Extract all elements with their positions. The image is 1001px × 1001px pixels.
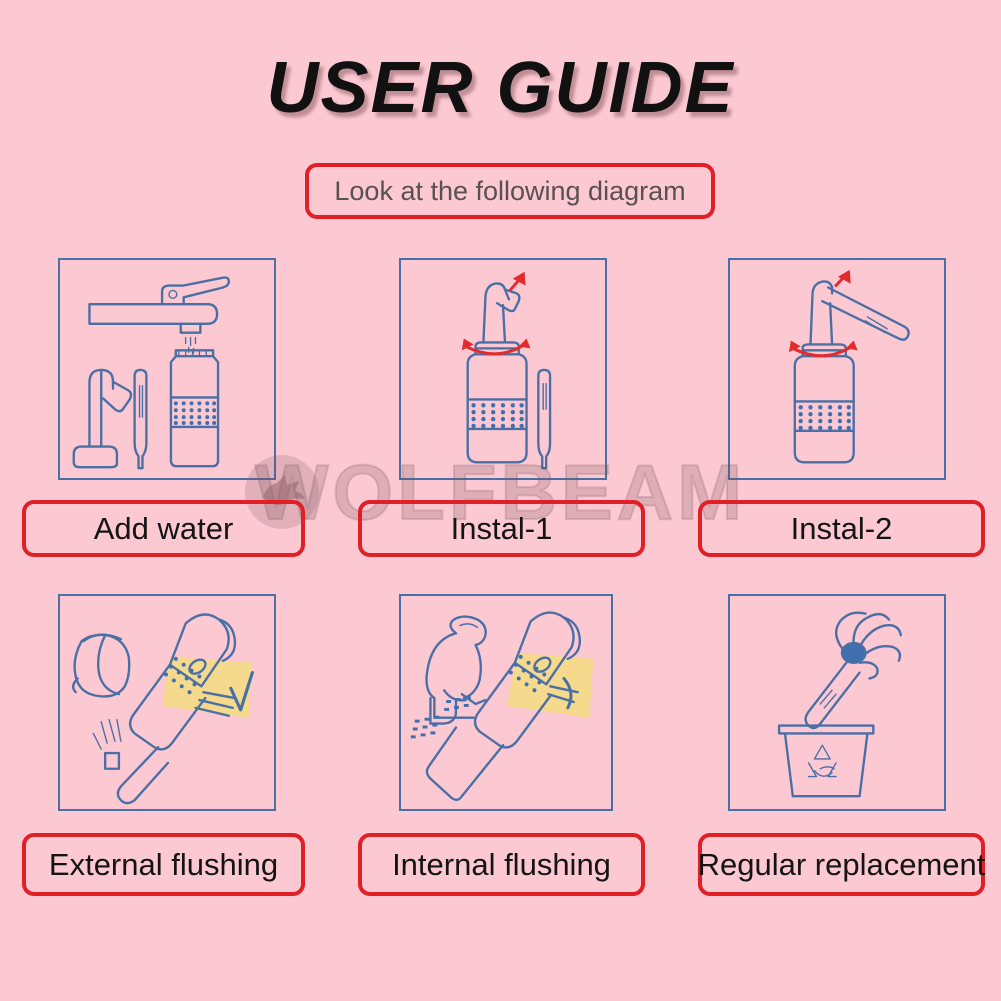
- step-label: Regular replacement: [698, 847, 986, 883]
- step-caption-regular-replacement: Regular replacement: [698, 833, 985, 896]
- step-illustration-add-water: [58, 258, 276, 480]
- step-illustration-instal-2: [728, 258, 946, 480]
- page-title: USER GUIDE: [0, 52, 1001, 124]
- step-label: External flushing: [49, 847, 278, 883]
- step-caption-instal-1: Instal-1: [358, 500, 645, 557]
- step-caption-external-flushing: External flushing: [22, 833, 305, 896]
- step-caption-internal-flushing: Internal flushing: [358, 833, 645, 896]
- step-label: Instal-1: [451, 511, 553, 547]
- step-label: Instal-2: [791, 511, 893, 547]
- user-guide-page: USER GUIDE Look at the following diagram: [0, 0, 1001, 1001]
- step-label: Internal flushing: [392, 847, 611, 883]
- step-illustration-regular-replacement: [728, 594, 946, 811]
- step-caption-instal-2: Instal-2: [698, 500, 985, 557]
- step-illustration-instal-1: [399, 258, 607, 480]
- step-illustration-internal-flushing: [399, 594, 613, 811]
- step-caption-add-water: Add water: [22, 500, 305, 557]
- subtitle-box: Look at the following diagram: [305, 163, 715, 219]
- subtitle-text: Look at the following diagram: [334, 176, 685, 207]
- step-illustration-external-flushing: [58, 594, 276, 811]
- step-label: Add water: [94, 511, 234, 547]
